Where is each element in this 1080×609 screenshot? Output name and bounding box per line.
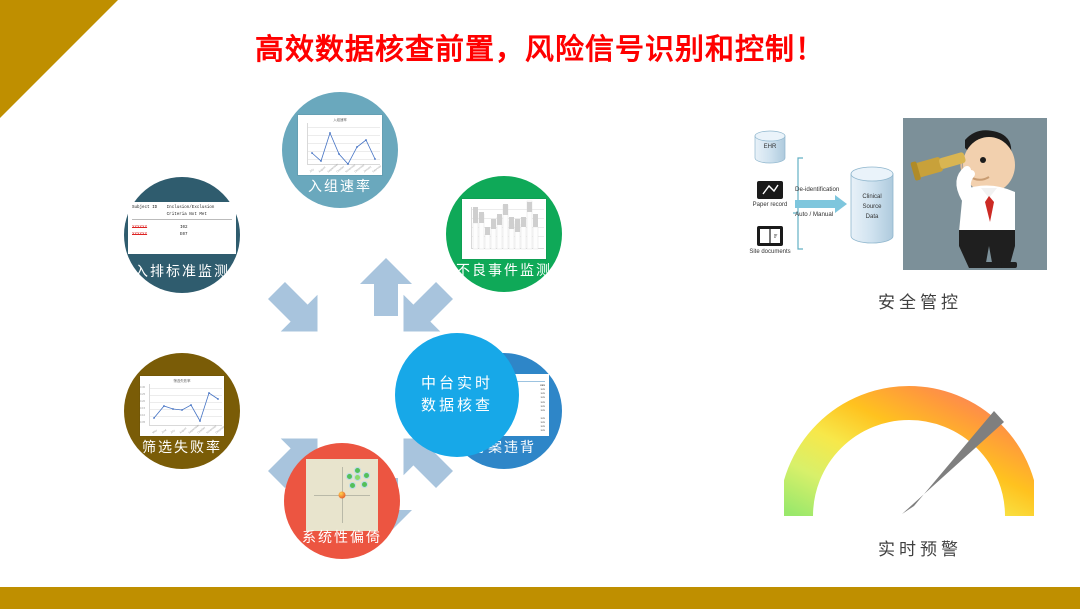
- node-enrollment-rate[interactable]: 入组速率 July August September Oc: [282, 92, 398, 208]
- bias-cluster: [345, 467, 371, 491]
- hub-diagram: 中台实时 数据核查 入组速率 J: [110, 80, 610, 580]
- paper-record-label: Paper record: [739, 202, 801, 208]
- node-inclusion-exclusion[interactable]: Subject ID Inclusion/Exclusion Criteria …: [124, 177, 240, 293]
- hub-center-node[interactable]: 中台实时 数据核查: [395, 333, 519, 457]
- node-label-enrollment-rate: 入组速率: [282, 176, 398, 196]
- realtime-alert-gauge: [784, 356, 1034, 526]
- clinical-source-line2: Source: [851, 204, 893, 210]
- deidentification-label: De-identification: [795, 186, 839, 193]
- node-label-screen-failure-rate: 筛选失败率: [124, 437, 240, 457]
- enrollment-rate-thumb: 入组速率 July August September Oc: [298, 115, 382, 175]
- ie-header-criteria: Inclusion/Exclusion Criteria Not Met: [167, 205, 232, 218]
- node-screen-failure-rate[interactable]: 筛选失败率 0.300.25 0.200.15 0.100.05: [124, 353, 240, 469]
- node-label-inclusion-exclusion: 入排标准监测: [124, 261, 240, 281]
- node-label-adverse-event: 不良事件监测: [446, 260, 562, 280]
- node-label-systematic-bias: 系统性偏倚: [284, 527, 400, 547]
- table-row: XXXXXX I02: [132, 225, 232, 232]
- slide-root: 高效数据核查前置，风险信号识别和控制！ 中台实时 数据核查 入: [0, 0, 1080, 609]
- ehr-label: EHR: [755, 144, 785, 150]
- ie-header-subject: Subject ID: [132, 205, 167, 218]
- arrow-upright-icon: [393, 280, 455, 342]
- hub-center-line1: 中台实时: [421, 373, 493, 395]
- page-title: 高效数据核查前置，风险信号识别和控制！: [0, 26, 1080, 68]
- businessman-telescope-illustration: [903, 118, 1047, 270]
- systematic-bias-thumb: [306, 459, 378, 531]
- inclusion-exclusion-thumb: Subject ID Inclusion/Exclusion Criteria …: [128, 202, 236, 254]
- bias-center-dot: [339, 492, 346, 499]
- ehr-source-diagram: F EHR Paper record Site documents De-ide…: [733, 122, 908, 277]
- arrow-upleft-icon: [266, 280, 328, 342]
- screen-failure-thumb: 筛选失败率 0.300.25 0.200.15 0.100.05: [140, 376, 224, 436]
- site-documents-label: Site documents: [736, 249, 804, 255]
- bottom-gold-bar: [0, 587, 1080, 609]
- node-systematic-bias[interactable]: 系统性偏倚: [284, 443, 400, 559]
- hub-center-line2: 数据核查: [421, 395, 493, 417]
- adverse-event-bars: [462, 199, 546, 259]
- table-row: XXXXXX E07: [132, 232, 232, 239]
- clinical-source-line1: Clinical: [851, 194, 893, 200]
- node-adverse-event[interactable]: 不良事件监测: [446, 176, 562, 292]
- adverse-event-thumb: [462, 199, 546, 259]
- auto-manual-label: Auto / Manual: [795, 211, 833, 218]
- alert-caption: 实时预警: [790, 535, 1050, 560]
- clinical-source-line3: Data: [851, 214, 893, 220]
- safety-caption: 安全管控: [790, 288, 1050, 313]
